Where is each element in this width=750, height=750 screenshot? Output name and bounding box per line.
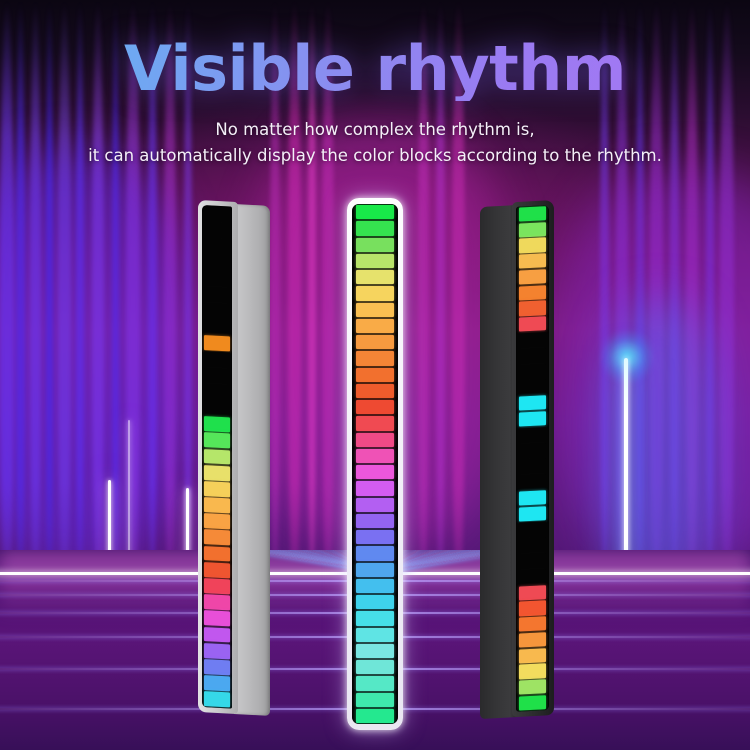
led-segment — [356, 514, 394, 528]
led-segment — [519, 569, 546, 585]
led-segment — [356, 449, 394, 463]
led-segment — [356, 563, 394, 577]
page-subtitle: No matter how complex the rhythm is, it … — [0, 117, 750, 168]
reflection-device-right — [516, 670, 550, 714]
led-segment — [204, 206, 230, 222]
page-title: Visible rhythm — [0, 36, 750, 101]
led-strip-black — [516, 205, 549, 712]
led-segment — [356, 416, 394, 430]
led-face-black — [516, 205, 549, 712]
led-segment — [519, 600, 546, 616]
led-segment — [519, 585, 546, 601]
led-segment — [519, 411, 546, 427]
led-segment — [519, 285, 546, 301]
led-segment — [519, 301, 546, 317]
led-segment — [204, 643, 230, 659]
subtitle-line-2: it can automatically display the color b… — [0, 143, 750, 169]
led-segment — [204, 222, 230, 238]
led-segment — [519, 269, 546, 285]
led-segment — [356, 530, 394, 544]
led-segment — [356, 384, 394, 398]
led-segment — [519, 648, 546, 664]
led-segment — [204, 384, 230, 400]
led-segment — [204, 400, 230, 416]
led-segment — [519, 506, 546, 522]
led-segment — [204, 303, 230, 319]
led-segment — [356, 303, 394, 317]
led-segment — [519, 537, 546, 553]
led-segment — [204, 610, 230, 626]
led-segment — [356, 433, 394, 447]
led-segment — [204, 416, 230, 432]
led-segment — [356, 546, 394, 560]
led-segment — [356, 579, 394, 593]
led-segment — [519, 238, 546, 254]
led-segment — [519, 316, 546, 332]
led-segment — [519, 253, 546, 269]
led-segment — [356, 400, 394, 414]
led-segment — [356, 595, 394, 609]
reflection-device-left — [202, 668, 238, 712]
led-strip-silver — [202, 205, 232, 709]
led-segment — [204, 254, 230, 270]
led-segment — [356, 270, 394, 284]
led-segment — [204, 368, 230, 384]
led-segment — [204, 335, 230, 351]
led-segment — [356, 465, 394, 479]
led-segment — [519, 364, 546, 380]
led-segment — [204, 319, 230, 335]
led-segment — [519, 458, 546, 474]
led-segment — [519, 553, 546, 569]
led-segment — [204, 449, 230, 465]
subtitle-line-1: No matter how complex the rhythm is, — [0, 117, 750, 143]
led-segment — [204, 271, 230, 287]
led-segment — [356, 238, 394, 252]
led-segment — [519, 616, 546, 632]
led-segment — [356, 286, 394, 300]
led-face-white — [352, 204, 398, 724]
led-segment — [204, 546, 230, 562]
led-segment — [356, 254, 394, 268]
led-segment — [204, 594, 230, 610]
led-segment — [356, 628, 394, 642]
product-marketing-image: Visible rhythm No matter how complex the… — [0, 0, 750, 750]
led-segment — [204, 497, 230, 513]
led-segment — [519, 427, 546, 443]
led-segment — [519, 332, 546, 348]
led-segment — [519, 348, 546, 364]
rgb-rhythm-light-white[interactable] — [347, 198, 405, 733]
led-segment — [204, 562, 230, 578]
led-segment — [519, 474, 546, 490]
rgb-rhythm-light-black[interactable] — [480, 200, 560, 722]
led-segment — [356, 660, 394, 674]
led-segment — [356, 498, 394, 512]
led-segment — [356, 319, 394, 333]
led-segment — [356, 644, 394, 658]
rgb-rhythm-light-silver[interactable] — [198, 200, 278, 720]
led-segment — [519, 395, 546, 411]
led-segment — [204, 578, 230, 594]
led-segment — [204, 238, 230, 254]
led-segment — [356, 481, 394, 495]
wall-glow-left — [0, 150, 190, 570]
led-segment — [204, 465, 230, 481]
led-segment — [204, 530, 230, 546]
led-segment — [519, 380, 546, 396]
led-segment — [519, 222, 546, 238]
led-segment — [356, 335, 394, 349]
led-segment — [356, 351, 394, 365]
led-segment — [204, 481, 230, 497]
led-segment — [204, 513, 230, 529]
led-segment — [356, 611, 394, 625]
led-face-silver — [202, 205, 232, 709]
led-segment — [356, 221, 394, 235]
device-side-panel-silver — [234, 204, 270, 716]
led-segment — [356, 368, 394, 382]
led-segment — [519, 522, 546, 538]
led-segment — [519, 632, 546, 648]
led-segment — [204, 627, 230, 643]
led-segment — [519, 443, 546, 459]
reflection-device-middle — [352, 682, 398, 726]
led-segment — [519, 490, 546, 506]
led-segment — [204, 351, 230, 367]
led-segment — [519, 206, 546, 222]
led-strip-white — [352, 204, 398, 724]
led-segment — [356, 205, 394, 219]
led-segment — [204, 432, 230, 448]
led-segment — [204, 287, 230, 303]
